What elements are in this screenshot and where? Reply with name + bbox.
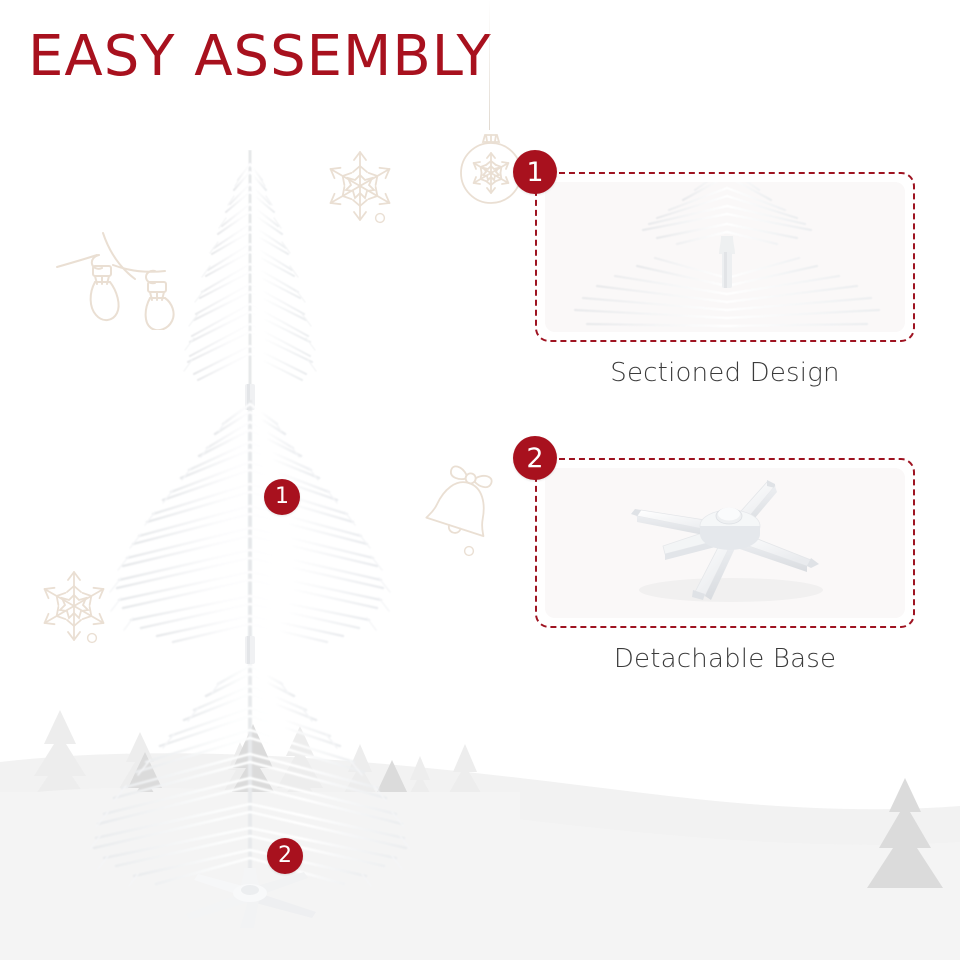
product-tree-stack: 1 2 bbox=[0, 0, 520, 960]
feature-1-badge: 1 bbox=[513, 150, 557, 194]
tree-stand-svg bbox=[545, 468, 905, 618]
feature-2-badge-label: 2 bbox=[526, 445, 543, 472]
tree-joint-closeup-svg bbox=[545, 182, 905, 332]
product-feature-graphic: EASY ASSEMBLY bbox=[0, 0, 960, 960]
feature-1-dashed-frame bbox=[535, 172, 915, 342]
tree-top-section bbox=[150, 150, 350, 415]
tree-badge-1: 1 bbox=[264, 479, 300, 515]
tree-badge-2-label: 2 bbox=[278, 845, 292, 867]
tree-badge-1-label: 1 bbox=[275, 486, 289, 508]
feature-2-dashed-frame bbox=[535, 458, 915, 628]
feature-1-badge-label: 1 bbox=[526, 159, 543, 186]
feature-2-badge: 2 bbox=[513, 436, 557, 480]
feature-card-detachable-base[interactable]: 2 Detachable Base bbox=[535, 458, 915, 688]
feature-2-photo bbox=[545, 468, 905, 618]
tree-bottom-section bbox=[90, 662, 410, 932]
feature-1-caption: Sectioned Design bbox=[535, 358, 915, 388]
feature-1-photo bbox=[545, 182, 905, 332]
feature-card-sectioned-design[interactable]: 1 Sectioned Design bbox=[535, 172, 915, 402]
feature-2-caption: Detachable Base bbox=[535, 644, 915, 674]
tree-middle-section bbox=[105, 398, 395, 666]
tree-badge-2: 2 bbox=[267, 838, 303, 874]
